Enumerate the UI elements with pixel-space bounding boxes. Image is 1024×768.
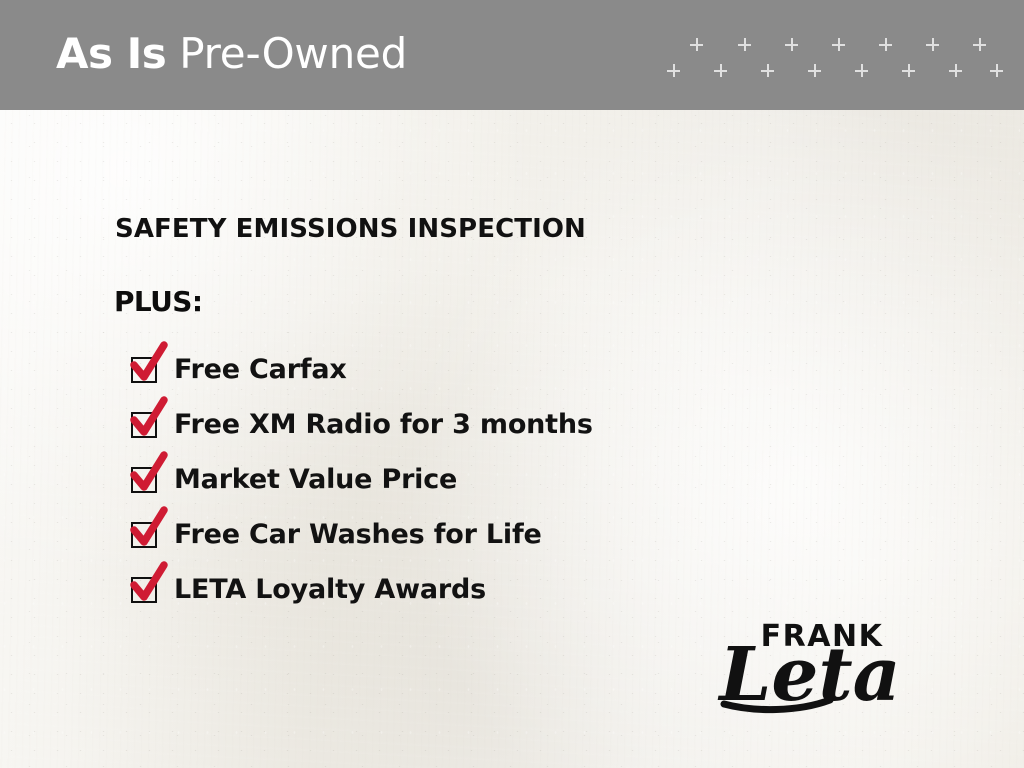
plus-subheading: PLUS: (114, 285, 202, 318)
slide-title-bold: As Is (56, 29, 166, 78)
list-item: Market Value Price (131, 452, 831, 507)
plus-row-top (672, 38, 1002, 58)
plus-icon (902, 64, 915, 77)
checkbox-checked (131, 522, 157, 548)
list-item: Free XM Radio for 3 months (131, 397, 831, 452)
checkbox-checked (131, 577, 157, 603)
plus-icon (785, 38, 798, 51)
plus-pattern-decoration (672, 38, 1002, 88)
plus-icon (690, 38, 703, 51)
plus-icon (761, 64, 774, 77)
checkmark-icon (130, 563, 170, 605)
list-item: Free Carfax (131, 342, 831, 397)
list-item-label: Free Carfax (174, 354, 347, 385)
plus-row-bottom (672, 64, 1002, 84)
checkbox-checked (131, 412, 157, 438)
list-item-label: Market Value Price (174, 464, 457, 495)
frank-leta-logo: FRANK Leta (702, 608, 912, 720)
logo-artwork: FRANK Leta (702, 608, 912, 720)
plus-icon (926, 38, 939, 51)
checkmark-icon (130, 508, 170, 550)
list-item-label: LETA Loyalty Awards (174, 574, 486, 605)
section-heading: SAFETY EMISSIONS INSPECTION (115, 214, 586, 244)
plus-icon (949, 64, 962, 77)
slide: As IsPre-Owned SAFETY EMISSIONS INSPECTI… (0, 0, 1024, 768)
list-item: Free Car Washes for Life (131, 507, 831, 562)
plus-icon (667, 64, 680, 77)
plus-icon (738, 38, 751, 51)
checkmark-icon (130, 343, 170, 385)
checkbox-checked (131, 357, 157, 383)
plus-icon (990, 64, 1003, 77)
slide-title-light: Pre-Owned (179, 29, 407, 78)
benefits-checklist: Free Carfax Free XM Radio for 3 months M… (131, 342, 831, 617)
list-item-label: Free XM Radio for 3 months (174, 409, 593, 440)
checkmark-icon (130, 398, 170, 440)
plus-icon (832, 38, 845, 51)
plus-icon (973, 38, 986, 51)
list-item-label: Free Car Washes for Life (174, 519, 542, 550)
plus-icon (808, 64, 821, 77)
plus-icon (879, 38, 892, 51)
checkbox-checked (131, 467, 157, 493)
plus-icon (714, 64, 727, 77)
slide-title: As IsPre-Owned (56, 33, 407, 75)
checkmark-icon (130, 453, 170, 495)
plus-icon (855, 64, 868, 77)
